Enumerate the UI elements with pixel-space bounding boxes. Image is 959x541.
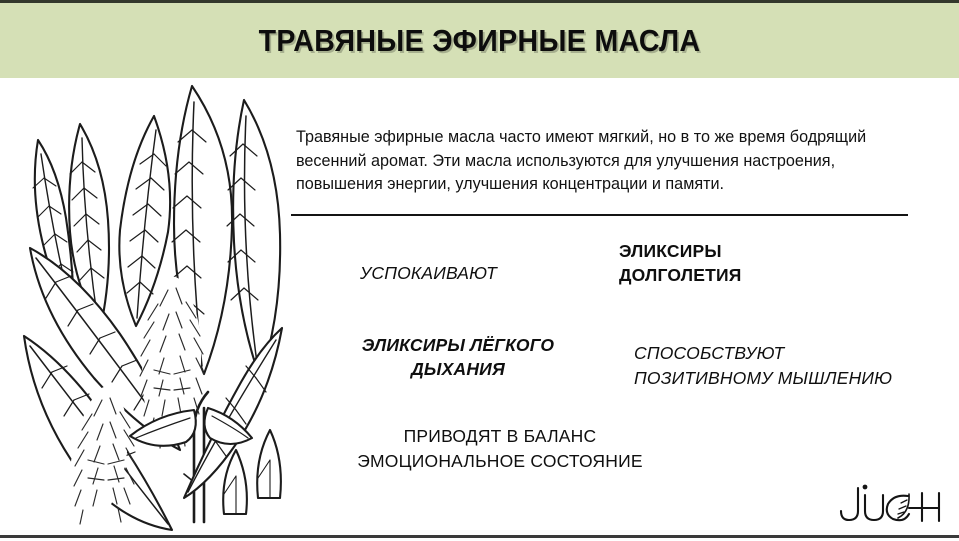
herbal-plant-illustration bbox=[8, 78, 290, 533]
benefit-label-breathing: ЭЛИКСИРЫ ЛЁГКОГО ДЫХАНИЯ bbox=[356, 333, 560, 381]
slide-canvas: ТРАВЯНЫЕ ЭФИРНЫЕ МАСЛА bbox=[0, 0, 959, 541]
benefit-label-longevity: ЭЛИКСИРЫ ДОЛГОЛЕТИЯ bbox=[619, 239, 742, 287]
benefit-label-calm: УСПОКАИВАЮТ bbox=[360, 263, 497, 284]
benefit-label-positive-thinking: СПОСОБСТВУЮТ ПОЗИТИВНОМУ МЫШЛЕНИЮ bbox=[634, 341, 892, 391]
intro-paragraph: Травяные эфирные масла часто имеют мягки… bbox=[296, 126, 910, 196]
page-title: ТРАВЯНЫЕ ЭФИРНЫЕ МАСЛА bbox=[38, 23, 920, 59]
section-divider bbox=[291, 214, 908, 216]
header-band: ТРАВЯНЫЕ ЭФИРНЫЕ МАСЛА bbox=[0, 3, 959, 78]
bottom-rule bbox=[0, 535, 959, 538]
benefit-label-emotional-balance: ПРИВОДЯТ В БАЛАНС ЭМОЦИОНАЛЬНОЕ СОСТОЯНИ… bbox=[316, 424, 684, 474]
brand-logo bbox=[838, 478, 942, 528]
